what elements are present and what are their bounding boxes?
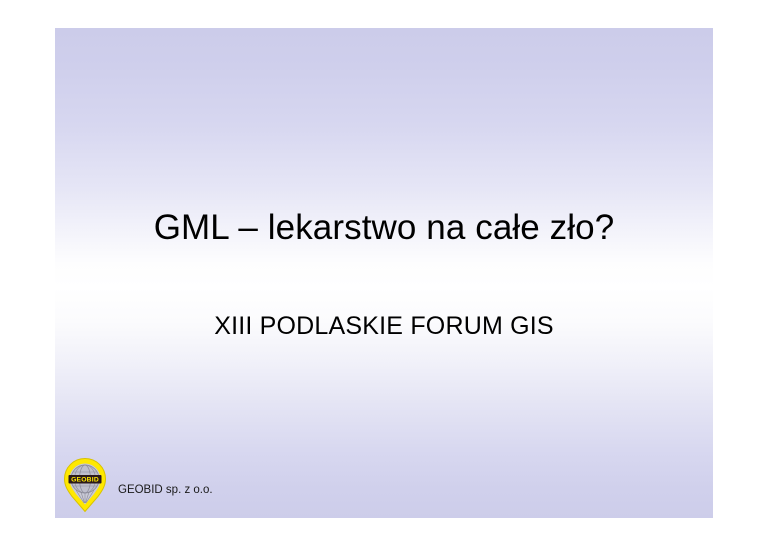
slide-subtitle: XIII PODLASKIE FORUM GIS: [55, 310, 713, 342]
geobid-pin-logo: GEOBID: [63, 457, 107, 513]
title-placeholder: GML – lekarstwo na całe zło?: [55, 206, 713, 250]
presentation-slide: GML – lekarstwo na całe zło? XIII PODLAS…: [55, 28, 713, 518]
subtitle-placeholder: XIII PODLASKIE FORUM GIS: [55, 310, 713, 342]
slide-footer: GEOBID GEOBID sp. z o.o.: [63, 455, 213, 515]
page-canvas: GML – lekarstwo na całe zło? XIII PODLAS…: [0, 0, 768, 543]
logo-wordmark: GEOBID: [71, 477, 99, 484]
page-title: GML – lekarstwo na całe zło?: [55, 206, 713, 250]
company-name-label: GEOBID sp. z o.o.: [118, 483, 213, 497]
